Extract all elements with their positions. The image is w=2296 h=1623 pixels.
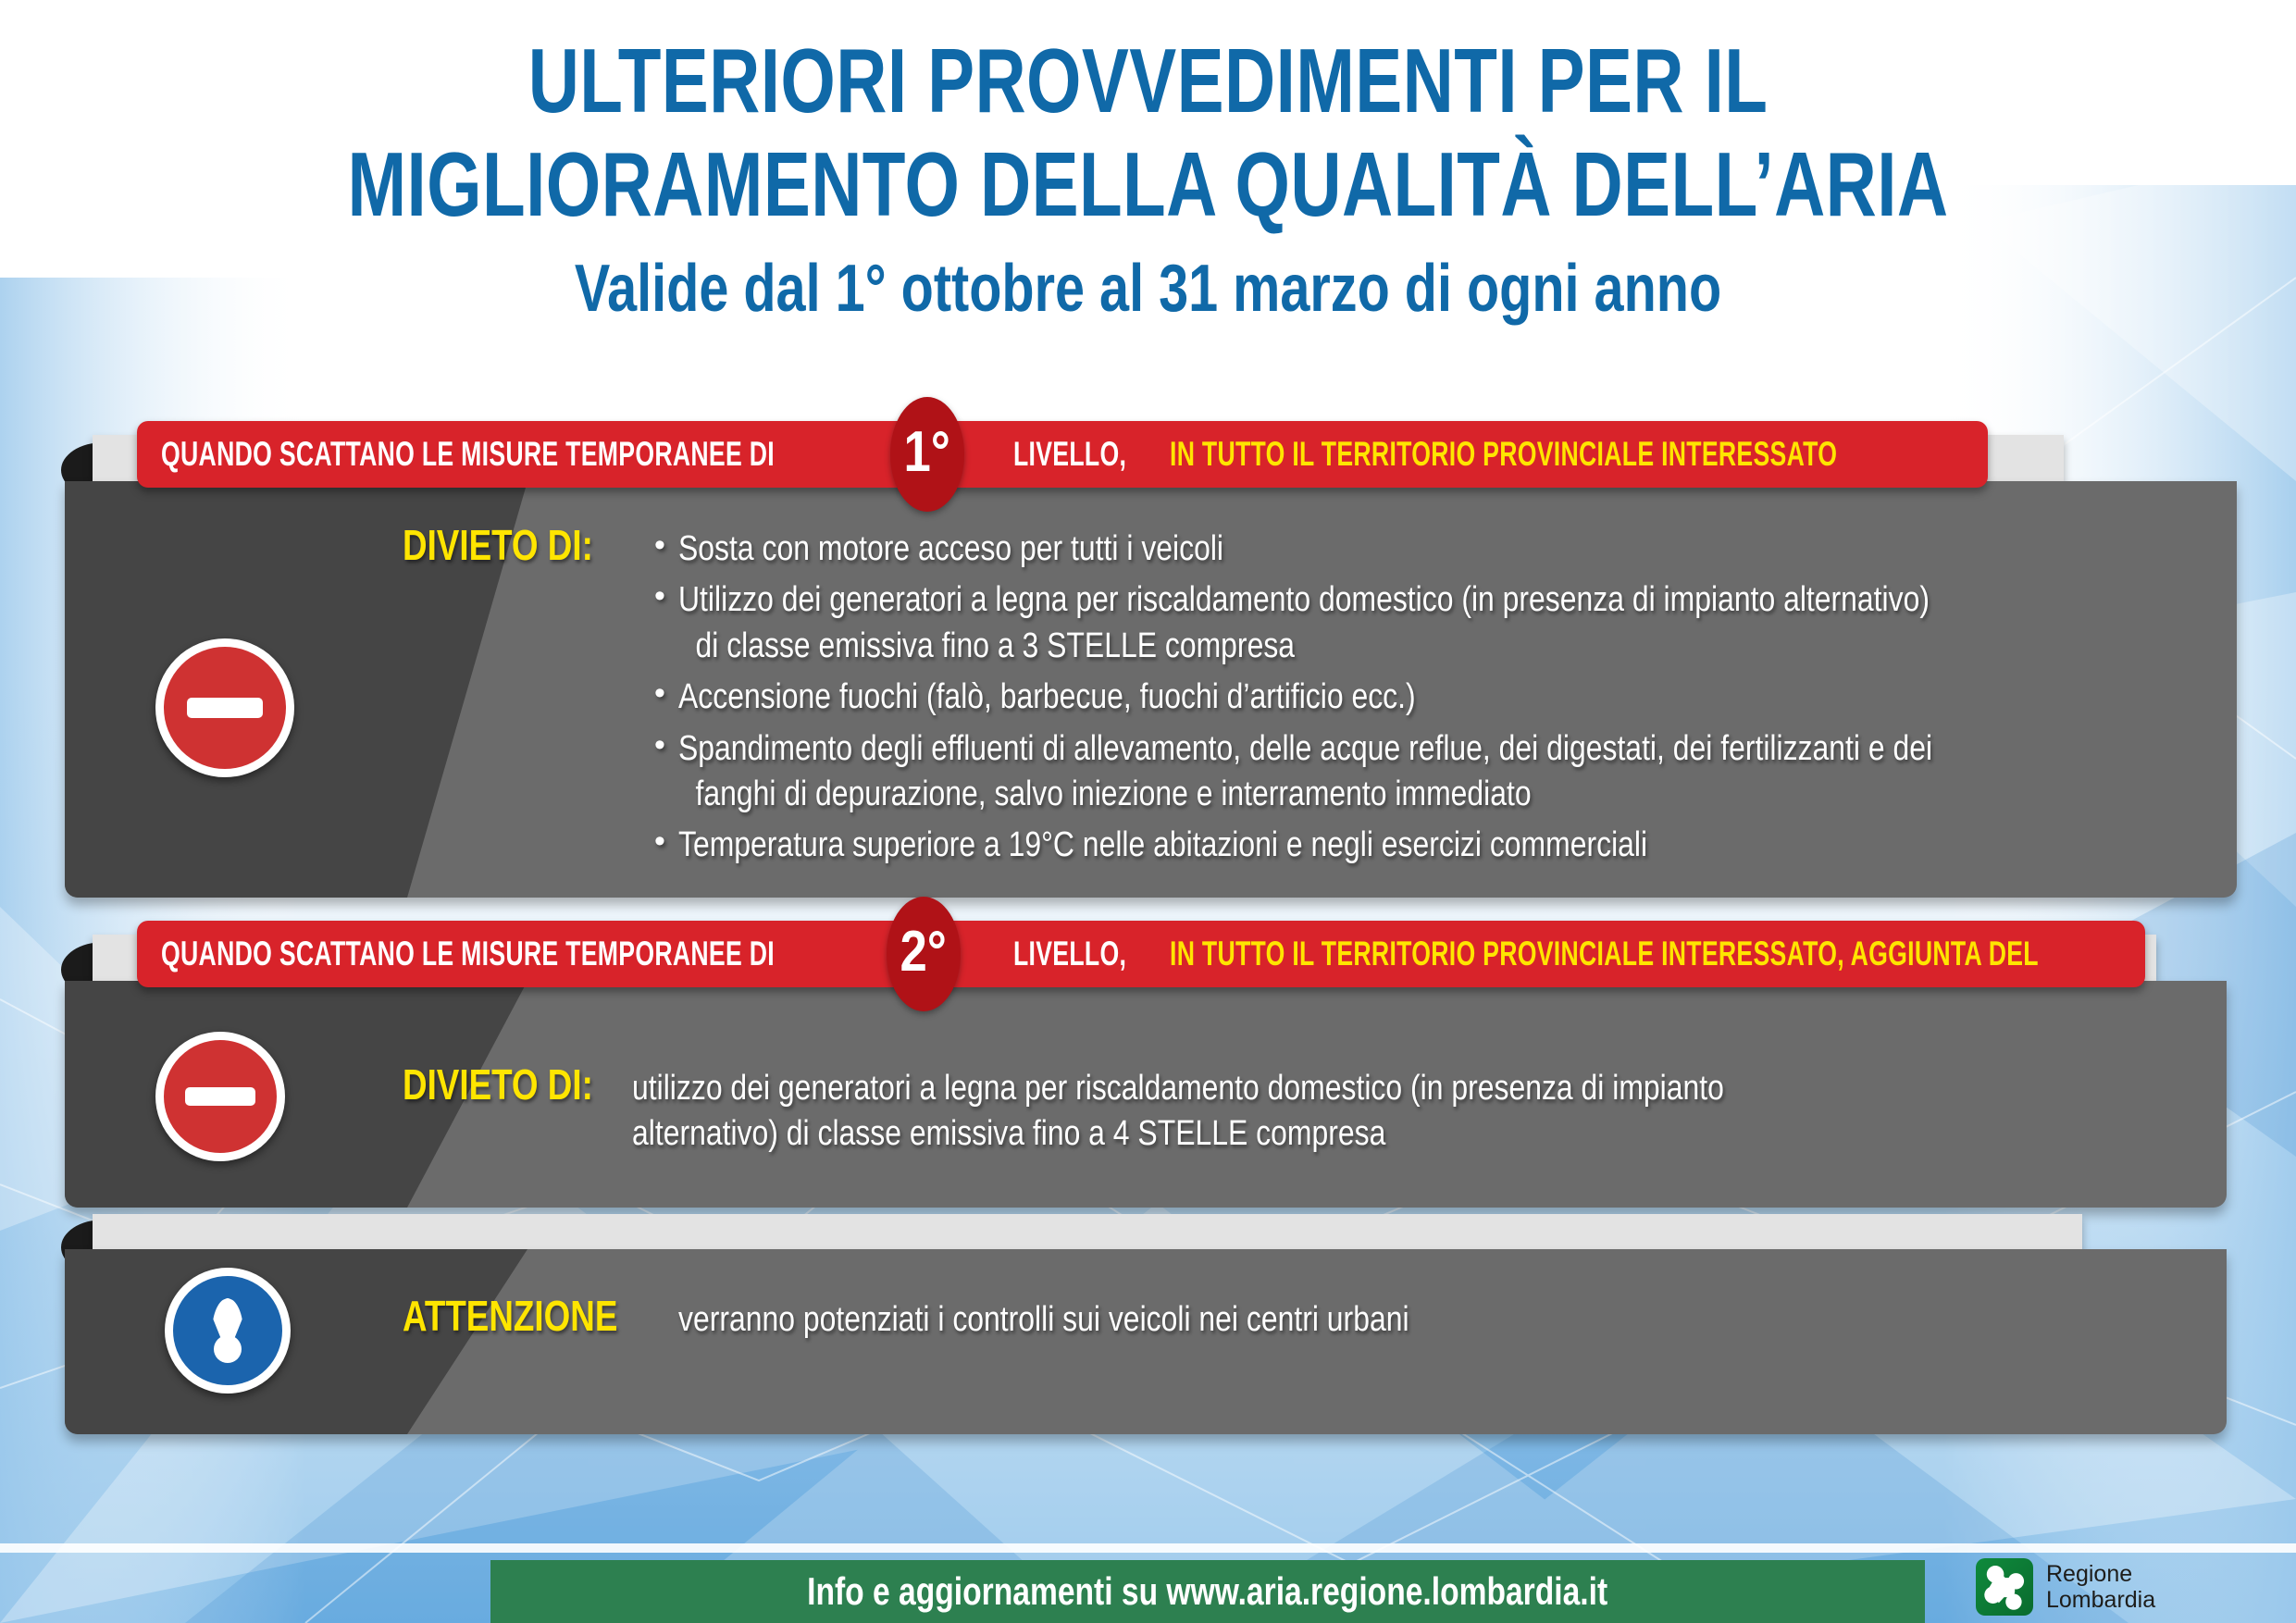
list-item: Temperatura superiore a 19°C nelle abita… [654, 823, 2171, 868]
paragraph-2-line-2: alternativo) di classe emissiva fino a 4… [632, 1111, 1724, 1157]
paragraph-2: utilizzo dei generatori a legna per risc… [632, 1066, 1932, 1158]
page-subtitle: Valide dal 1° ottobre al 31 marzo di ogn… [230, 229, 2066, 322]
footer-green-bar: Info e aggiornamenti su www.aria.regione… [490, 1560, 1925, 1623]
banner-2-text-after: LIVELLO, [1013, 935, 1126, 973]
bullet-2-line-1: Utilizzo dei generatori a legna per risc… [678, 577, 1932, 623]
bullet-5-line-1: Temperatura superiore a 19°C nelle abita… [678, 823, 1932, 868]
exclamation-dot [214, 1335, 242, 1363]
banner-level-2: QUANDO SCATTANO LE MISURE TEMPORANEE DI … [137, 921, 2145, 987]
lead-label-3: ATTENZIONE [403, 1291, 623, 1341]
list-item: Sosta con motore acceso per tutti i veic… [654, 527, 2171, 572]
prohibition-list-1: Sosta con motore acceso per tutti i veic… [654, 527, 2171, 874]
banner-2-text-before: QUANDO SCATTANO LE MISURE TEMPORANEE DI [161, 935, 775, 973]
level-badge-2-label: 2° [900, 923, 947, 985]
paragraph-3-line-1: verranno potenziati i controlli sui veic… [678, 1297, 1409, 1343]
exclamation-glyph [173, 1276, 282, 1385]
banner-1-text-highlight: IN TUTTO IL TERRITORIO PROVINCIALE INTER… [1170, 435, 1837, 474]
bullet-1-line-1: Sosta con motore acceso per tutti i veic… [678, 527, 1932, 572]
bullet-4-line-1: Spandimento degli effluenti di allevamen… [678, 726, 1932, 772]
level-badge-2: 2° [887, 897, 961, 1011]
panel-content-1: DIVIETO DI: Sosta con motore acceso per … [403, 520, 2216, 874]
info-exclamation-icon [165, 1268, 291, 1394]
bullet-3-line-1: Accensione fuochi (falò, barbecue, fuoch… [678, 675, 1932, 720]
footer-info-text[interactable]: Info e aggiornamenti su www.aria.regione… [807, 1569, 1607, 1614]
banner-level-1: QUANDO SCATTANO LE MISURE TEMPORANEE DI … [137, 421, 1988, 488]
logo-line-1: Regione [2046, 1561, 2155, 1587]
footer: Info e aggiornamenti su www.aria.regione… [0, 1555, 2296, 1623]
no-entry-icon-2 [155, 1032, 285, 1161]
paragraph-2-line-1: utilizzo dei generatori a legna per risc… [632, 1066, 1724, 1111]
panel-content-2: DIVIETO DI: utilizzo dei generatori a le… [403, 1059, 2216, 1158]
list-item: Utilizzo dei generatori a legna per risc… [654, 577, 2171, 669]
page-title-line-1: ULTERIORI PROVVEDIMENTI PER IL [253, 0, 2043, 126]
level-badge-1-label: 1° [904, 424, 950, 485]
no-entry-bar-2 [185, 1087, 255, 1107]
no-entry-bar-1 [187, 698, 263, 718]
no-entry-icon-1 [155, 638, 294, 777]
list-item: Spandimento degli effluenti di allevamen… [654, 726, 2171, 818]
lead-label-2: DIVIETO DI: [403, 1059, 586, 1109]
logo-wordmark: Regione Lombardia [2046, 1561, 2155, 1613]
logo-line-2: Lombardia [2046, 1587, 2155, 1613]
list-item: Accensione fuochi (falò, barbecue, fuoch… [654, 675, 2171, 720]
bullet-2-line-2: di classe emissiva fino a 3 STELLE compr… [678, 624, 1932, 669]
page-title-line-2: MIGLIORAMENTO DELLA QUALITÀ DELL’ARIA [253, 126, 2043, 229]
level-badge-1: 1° [890, 397, 964, 512]
lead-label-1: DIVIETO DI: [403, 520, 610, 570]
banner-1-text-after: LIVELLO, [1013, 435, 1126, 474]
panel-content-3: ATTENZIONE verranno potenziati i control… [403, 1291, 2216, 1343]
rosa-camuna-icon [1976, 1558, 2033, 1616]
regione-lombardia-logo: Regione Lombardia [1976, 1558, 2155, 1616]
header: ULTERIORI PROVVEDIMENTI PER IL MIGLIORAM… [0, 0, 2296, 389]
banner-2-text-highlight: IN TUTTO IL TERRITORIO PROVINCIALE INTER… [1170, 935, 2039, 973]
bullet-4-line-2: fanghi di depurazione, salvo iniezione e… [678, 772, 1932, 817]
banner-1-text-before: QUANDO SCATTANO LE MISURE TEMPORANEE DI [161, 435, 775, 474]
